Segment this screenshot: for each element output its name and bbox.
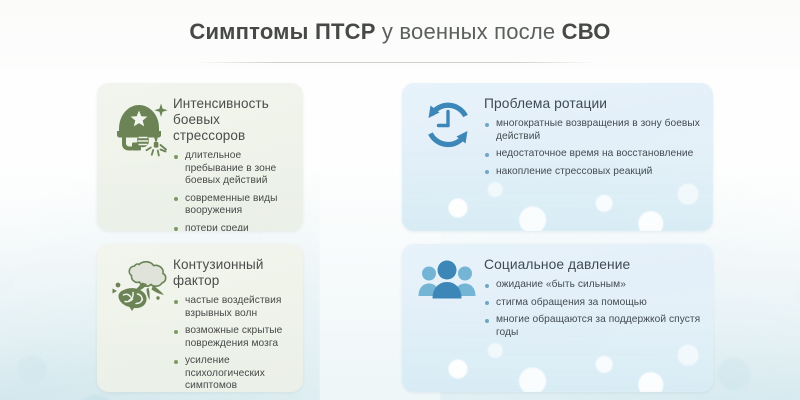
card-bullet-list: частые воздействия взрывных волн возможн… (173, 295, 293, 392)
list-item: потери среди сослуживцев (173, 223, 293, 232)
card-concussion-factor[interactable]: Контузионный фактор частые воздействия в… (97, 244, 303, 392)
list-item: многие обращаются за поддержкой спустя г… (484, 314, 703, 339)
list-item: накопление стрессовых реакций (484, 166, 703, 179)
card-social-pressure[interactable]: Социальное давление ожидание «быть сильн… (402, 244, 713, 392)
card-title: Проблема ротации (484, 96, 703, 112)
page-title-part-2: у военных после (376, 19, 562, 44)
list-item: ожидание «быть сильным» (484, 279, 703, 292)
list-item: современные виды вооружения (173, 193, 293, 218)
card-title: Социальное давление (484, 257, 703, 273)
list-item: стигма обращения за помощью (484, 297, 703, 310)
list-item: многократные возвращения в зону боевых д… (484, 118, 703, 143)
helmet-icon (107, 95, 173, 163)
brain-blast-icon (107, 256, 173, 324)
header-divider (196, 62, 596, 63)
list-item: длительное пребывание в зоне боевых дейс… (173, 150, 293, 188)
clock-rotation-icon (412, 95, 484, 163)
people-group-icon (412, 256, 484, 324)
list-item: недостаточное время на восстановление (484, 148, 703, 161)
page-title-part-3: СВО (562, 19, 611, 44)
page-title-part-1: Симптомы ПТСР (189, 19, 375, 44)
list-item: усиление психологических симптомов (173, 355, 293, 392)
card-bullet-list: длительное пребывание в зоне боевых дейс… (173, 150, 293, 231)
card-bullet-list: ожидание «быть сильным» стигма обращения… (484, 279, 703, 339)
infographic-slide: Симптомы ПТСР у военных после СВО (0, 0, 800, 400)
page-title: Симптомы ПТСР у военных после СВО (0, 18, 800, 46)
card-bullet-list: многократные возвращения в зону боевых д… (484, 118, 703, 178)
card-rotation-problem[interactable]: Проблема ротации многократные возвращени… (402, 83, 713, 231)
list-item: частые воздействия взрывных волн (173, 295, 293, 320)
card-combat-stressors[interactable]: Интенсивность боевых стрессоров длительн… (97, 83, 303, 231)
card-title: Интенсивность боевых стрессоров (173, 96, 293, 144)
list-item: возможные скрытые повреждения мозга (173, 325, 293, 350)
card-title: Контузионный фактор (173, 257, 293, 289)
